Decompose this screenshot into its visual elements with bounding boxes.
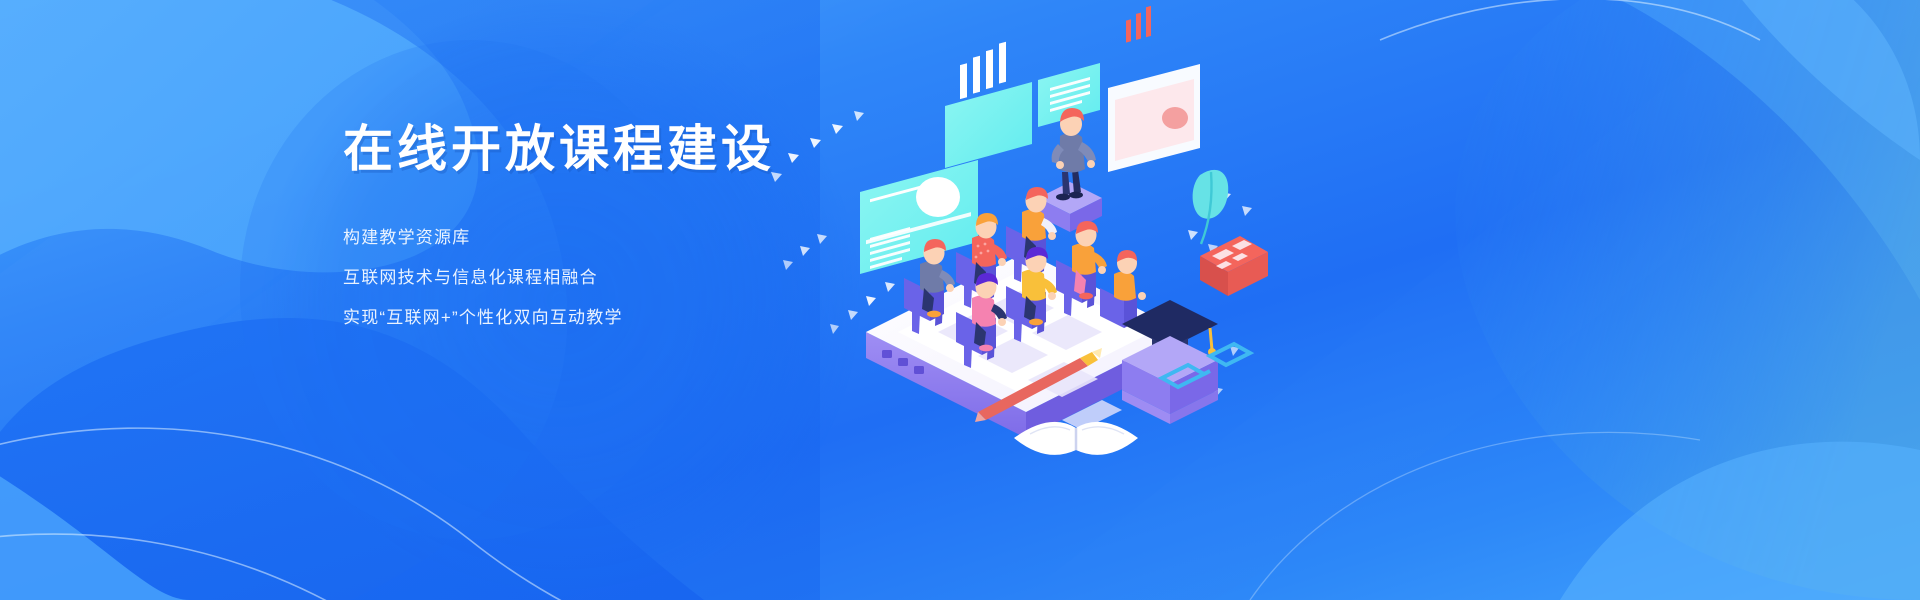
banner-copy: 在线开放课程建设 构建教学资源库 互联网技术与信息化课程相融合 实现“互联网+”… (343, 118, 1063, 338)
subtitle-line-2: 互联网技术与信息化课程相融合 (343, 258, 1063, 298)
subtitle-list: 构建教学资源库 互联网技术与信息化课程相融合 实现“互联网+”个性化双向互动教学 (343, 218, 1063, 338)
page-title: 在线开放课程建设 (343, 118, 1063, 180)
subtitle-line-1: 构建教学资源库 (343, 218, 1063, 258)
floating-screen-chart (1108, 6, 1200, 172)
hero-banner: 在线开放课程建设 构建教学资源库 互联网技术与信息化课程相融合 实现“互联网+”… (0, 0, 1920, 600)
subtitle-line-3: 实现“互联网+”个性化双向互动教学 (343, 298, 1063, 338)
leaf-plant-icon (1193, 170, 1229, 244)
